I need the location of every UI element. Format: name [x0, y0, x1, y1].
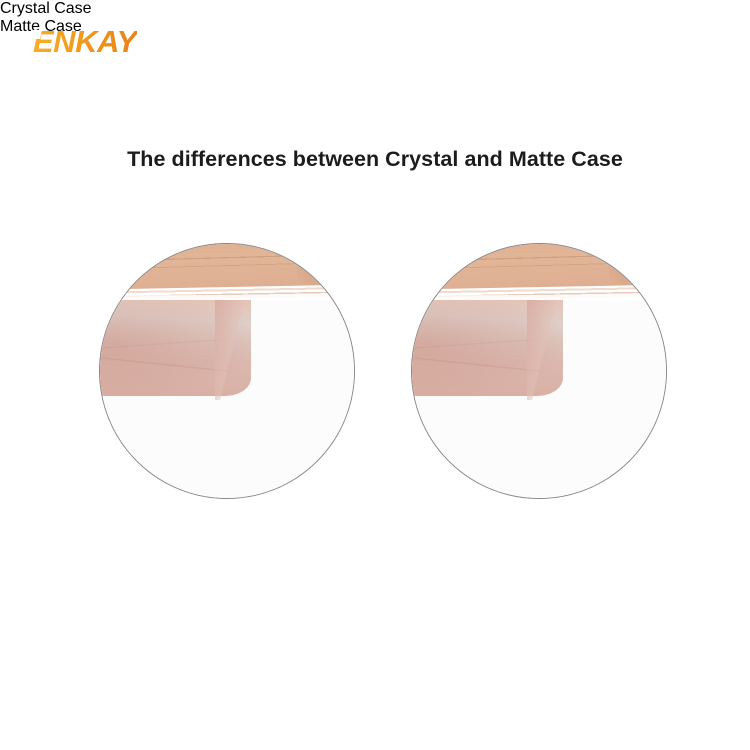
matte-case-photo [411, 243, 667, 499]
page-title: The differences between Crystal and Matt… [0, 147, 750, 172]
hand-behind-crystal-case [99, 243, 355, 499]
comparison-row [0, 243, 750, 499]
product-comparison-image: ENKAY The differences between Crystal an… [0, 0, 750, 750]
palm-creases [99, 320, 227, 378]
hand-behind-matte-case [411, 243, 667, 499]
palm-creases [411, 320, 539, 378]
comparison-panel-matte [411, 243, 667, 499]
comparison-panel-crystal [99, 243, 355, 499]
enkay-logo: ENKAY [33, 26, 137, 57]
matte-case-body [411, 300, 667, 499]
crystal-case-body [99, 300, 355, 499]
caption-crystal-case: Crystal Case [0, 0, 750, 18]
crystal-case-photo [99, 243, 355, 499]
